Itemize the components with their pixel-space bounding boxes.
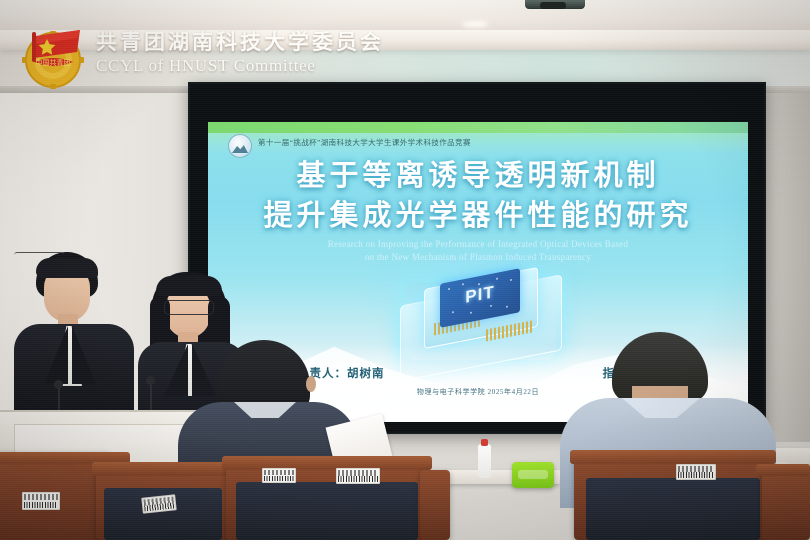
- chair-back-far-right: [762, 470, 810, 540]
- communist-youth-league-emblem: 中国共青团: [14, 18, 92, 90]
- svg-text:中国共青团: 中国共青团: [36, 58, 71, 67]
- slide-english-subtitle: Research on Improving the Performance of…: [208, 238, 748, 264]
- presenter-male-glasses: [14, 252, 64, 263]
- slide-subtitle-line-1: Research on Improving the Performance of…: [208, 238, 748, 251]
- slide-green-accent-bar: [208, 122, 748, 133]
- organization-name-chinese: 共青团湖南科技大学委员会: [96, 26, 384, 56]
- slide-title-line-1: 基于等离诱导透明新机制: [208, 156, 748, 196]
- presentation-room-photo: 中国共青团 共青团湖南科技大学委员会 CCYL of HNUST Committ…: [0, 0, 810, 540]
- chair-cushion-right: [586, 478, 760, 540]
- presenter-female-fringe: [156, 276, 222, 296]
- chair-asset-tag: [336, 468, 380, 484]
- presenter-female-glasses: [164, 300, 214, 315]
- water-bottle: [478, 444, 491, 478]
- chair-divider-center: [420, 470, 450, 540]
- chair-rail-far-right: [756, 464, 810, 476]
- competition-title: 第十一届“挑战杯”湖南科技大学大学生课外学术科技作品竞赛: [258, 137, 471, 148]
- logo-mountain-glyph: [232, 144, 248, 153]
- university-logo-icon: [228, 134, 252, 158]
- ceiling-light: [462, 21, 488, 27]
- chip-label: PIT: [440, 277, 520, 313]
- slide-title-line-2: 提升集成光学器件性能的研究: [208, 196, 748, 236]
- chair-rail-right: [570, 450, 776, 464]
- microphone-head-left: [54, 380, 63, 389]
- chair-asset-tag: [22, 492, 60, 510]
- audience-left-ear: [306, 376, 316, 392]
- chair-rail-center: [222, 456, 432, 470]
- organization-name-english: CCYL of HNUST Committee: [96, 56, 316, 76]
- slide-main-title: 基于等离诱导透明新机制 提升集成光学器件性能的研究: [208, 156, 748, 236]
- chair-rail-left: [92, 462, 240, 476]
- chair-asset-tag: [262, 468, 296, 483]
- projector-body: [540, 2, 566, 9]
- microphone-head-right: [146, 376, 155, 385]
- chair-cushion-center: [236, 482, 418, 540]
- green-storage-tray: [512, 462, 554, 488]
- chair-asset-tag: [676, 464, 716, 480]
